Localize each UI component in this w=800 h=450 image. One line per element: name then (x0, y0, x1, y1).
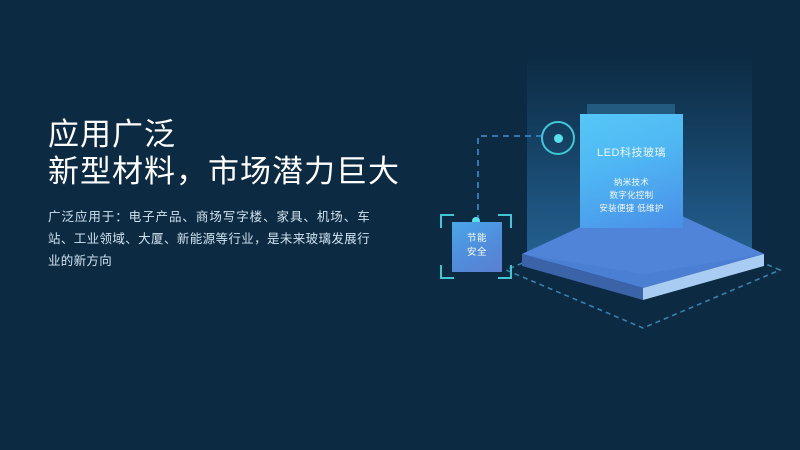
led-feature-list: 纳米技术 数字化控制 安装便捷 低维护 (580, 176, 683, 215)
led-glass-panel: LED科技玻璃 纳米技术 数字化控制 安装便捷 低维护 (580, 114, 683, 228)
feature-card-label: 节能 安全 (452, 232, 502, 260)
feature-card: 节能 安全 (440, 211, 512, 283)
presentation-slide: 应用广泛 新型材料，市场潜力巨大 广泛应用于：电子产品、商场写字楼、家具、机场、… (0, 0, 800, 450)
led-feature-item: 纳米技术 (580, 176, 683, 189)
page-title-line-2: 新型材料，市场潜力巨大 (48, 153, 448, 190)
feature-card-line-2: 安全 (452, 246, 502, 260)
led-feature-item: 数字化控制 (580, 189, 683, 202)
page-title-line-1: 应用广泛 (48, 116, 448, 153)
feature-card-face: 节能 安全 (452, 222, 502, 272)
text-block: 应用广泛 新型材料，市场潜力巨大 广泛应用于：电子产品、商场写字楼、家具、机场、… (48, 116, 448, 272)
node-center-dot (554, 134, 563, 143)
led-panel-title: LED科技玻璃 (580, 144, 683, 160)
led-feature-item: 安装便捷 低维护 (580, 202, 683, 215)
feature-card-line-1: 节能 (452, 232, 502, 246)
body-paragraph: 广泛应用于：电子产品、商场写字楼、家具、机场、车站、工业领域、大厦、新能源等行业… (48, 206, 370, 272)
connector-node-circle (541, 121, 575, 155)
